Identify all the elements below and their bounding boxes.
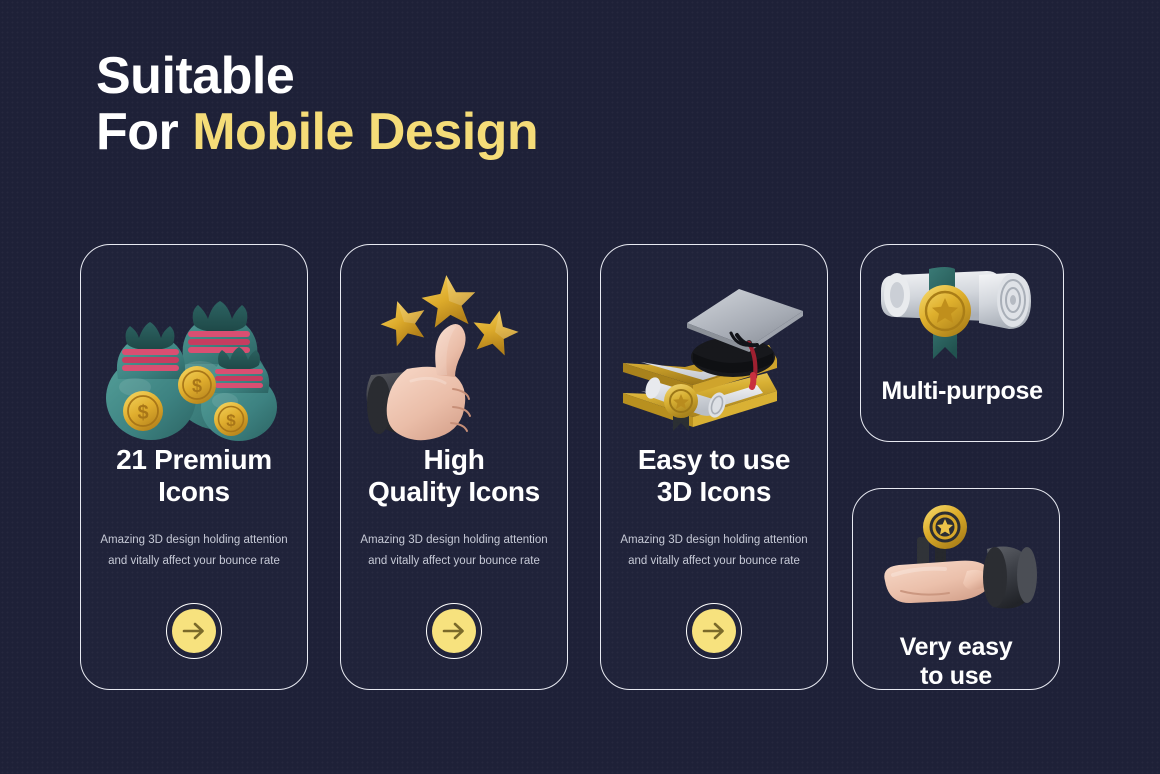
card-arrow-button[interactable] [686,603,742,659]
card-arrow-button[interactable] [426,603,482,659]
svg-text:$: $ [137,402,148,424]
thumbs-up-stars-icon [349,259,559,444]
page-title: Suitable For Mobile Design [96,48,716,160]
card-title: 21 Premium Icons [110,444,278,508]
feature-card-multi-purpose[interactable]: Multi-purpose [860,244,1064,442]
card-title: Easy to use 3D Icons [632,444,796,508]
arrow-right-icon [172,609,216,653]
card-title: Multi-purpose [881,377,1042,406]
headline-line-2-accent: Mobile Design [192,103,538,161]
card-description-line-2: and vitally affect your bounce rate [628,555,800,567]
headline-line-2-plain: For [96,103,192,161]
card-title-line-2: 3D Icons [657,476,771,507]
graduation-books-icon [609,259,819,444]
hand-holding-trophy-icon [871,503,1041,631]
headline-line-1: Suitable [96,48,716,104]
card-title-line-1: 21 Premium [116,444,272,475]
poster-stage: Suitable For Mobile Design [0,0,1160,774]
card-description-line-1: Amazing 3D design holding attention [620,534,807,546]
card-description-line-2: and vitally affect your bounce rate [108,555,280,567]
feature-card-very-easy[interactable]: Very easy to use [852,488,1060,690]
card-title-line-1: Easy to use [638,444,790,475]
feature-card-premium[interactable]: $ $ [80,244,308,690]
card-description-line-2: and vitally affect your bounce rate [368,555,540,567]
svg-text:$: $ [226,411,236,430]
card-title-line-1: Multi-purpose [881,377,1042,405]
card-title-line-1: High [423,444,484,475]
feature-card-quality[interactable]: High Quality Icons Amazing 3D design hol… [340,244,568,690]
card-description-line-1: Amazing 3D design holding attention [100,534,287,546]
card-description: Amazing 3D design holding attention and … [346,530,561,573]
card-title: Very easy to use [900,633,1013,691]
card-title-line-2: Icons [158,476,230,507]
money-bags-icon: $ $ [89,259,299,444]
card-description: Amazing 3D design holding attention and … [86,530,301,573]
card-title-line-1: Very easy [900,633,1013,661]
card-title: High Quality Icons [362,444,546,508]
diploma-scroll-medal-icon [877,253,1047,375]
card-arrow-button[interactable] [166,603,222,659]
headline-line-2: For Mobile Design [96,104,716,160]
card-title-line-2: to use [920,662,992,690]
svg-text:$: $ [192,376,202,396]
arrow-right-icon [432,609,476,653]
card-description-line-1: Amazing 3D design holding attention [360,534,547,546]
card-description: Amazing 3D design holding attention and … [606,530,821,573]
feature-card-easy[interactable]: Easy to use 3D Icons Amazing 3D design h… [600,244,828,690]
card-title-line-2: Quality Icons [368,476,540,507]
arrow-right-icon [692,609,736,653]
